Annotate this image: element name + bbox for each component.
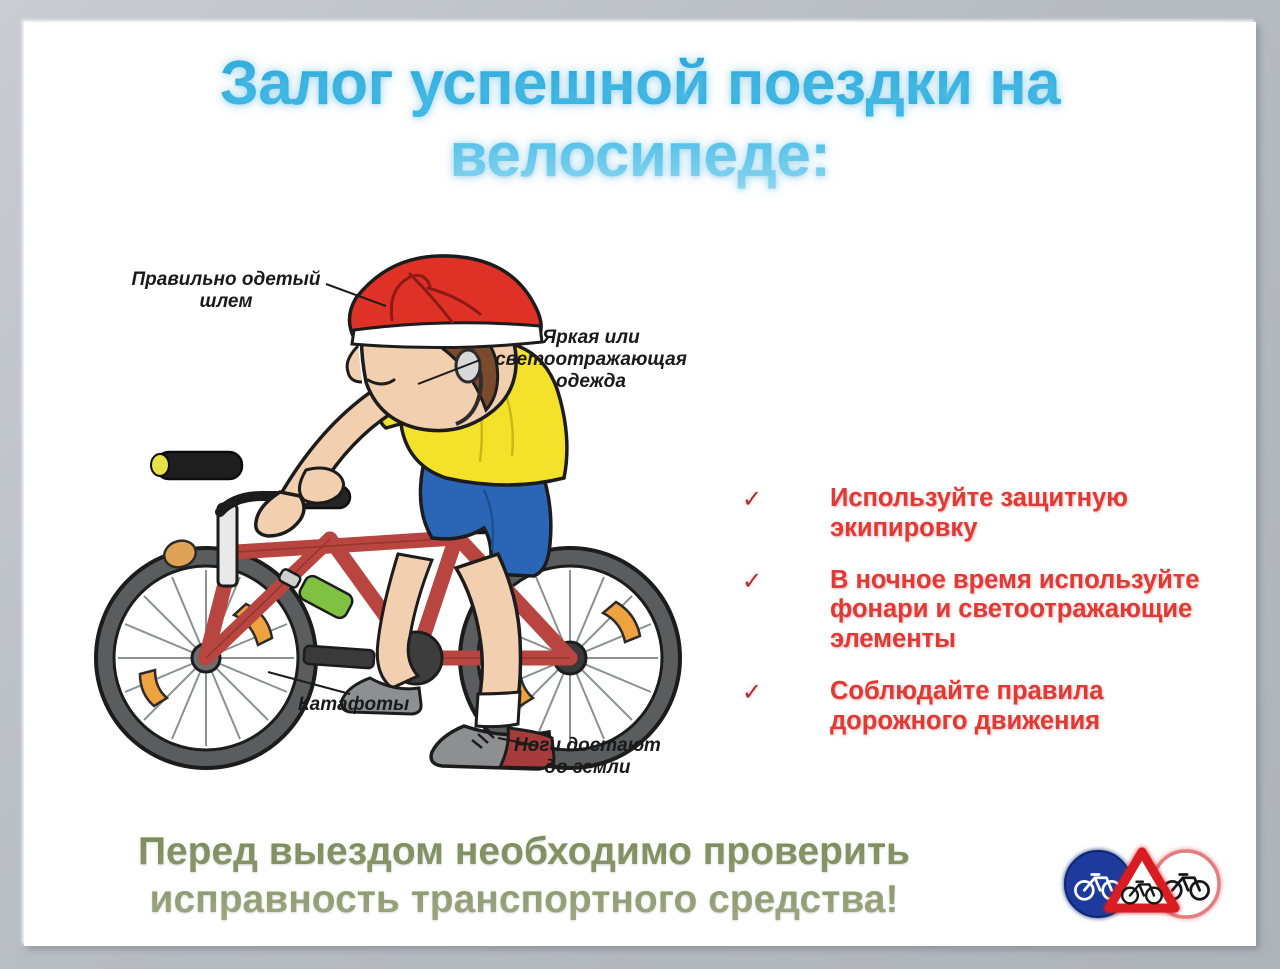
- list-item: ✓ Используйте защитную экипировку: [742, 484, 1242, 544]
- safety-tips-list: ✓ Используйте защитную экипировку ✓ В но…: [742, 484, 1242, 759]
- poster-canvas: Залог успешной поездки на велосипеде:: [24, 22, 1256, 946]
- list-item-label: В ночное время используйте фонари и свет…: [830, 566, 1242, 655]
- road-signs-group: [1054, 840, 1234, 932]
- callout-feet-reach-ground: Ноги достают до земли: [514, 735, 661, 779]
- headlight: [151, 452, 242, 479]
- crank-pedal: [303, 632, 442, 684]
- callout-clothing: Яркая или светоотражающая одежда: [476, 327, 706, 393]
- callout-helmet: Правильно одетый шлем: [96, 269, 356, 313]
- list-item-label: Соблюдайте правила дорожного движения: [830, 677, 1242, 737]
- list-item: ✓ В ночное время используйте фонари и св…: [742, 566, 1242, 655]
- check-icon: ✓: [742, 484, 830, 512]
- list-item-label: Используйте защитную экипировку: [830, 484, 1242, 544]
- page-title: Залог успешной поездки на велосипеде:: [24, 48, 1256, 192]
- check-icon: ✓: [742, 677, 830, 705]
- boy-hand-grip: [299, 468, 343, 503]
- callout-reflectors: Катафоты: [298, 694, 409, 716]
- list-item: ✓ Соблюдайте правила дорожного движения: [742, 677, 1242, 737]
- check-icon: ✓: [742, 566, 830, 594]
- footer-note: Перед выездом необходимо проверить испра…: [24, 828, 1024, 924]
